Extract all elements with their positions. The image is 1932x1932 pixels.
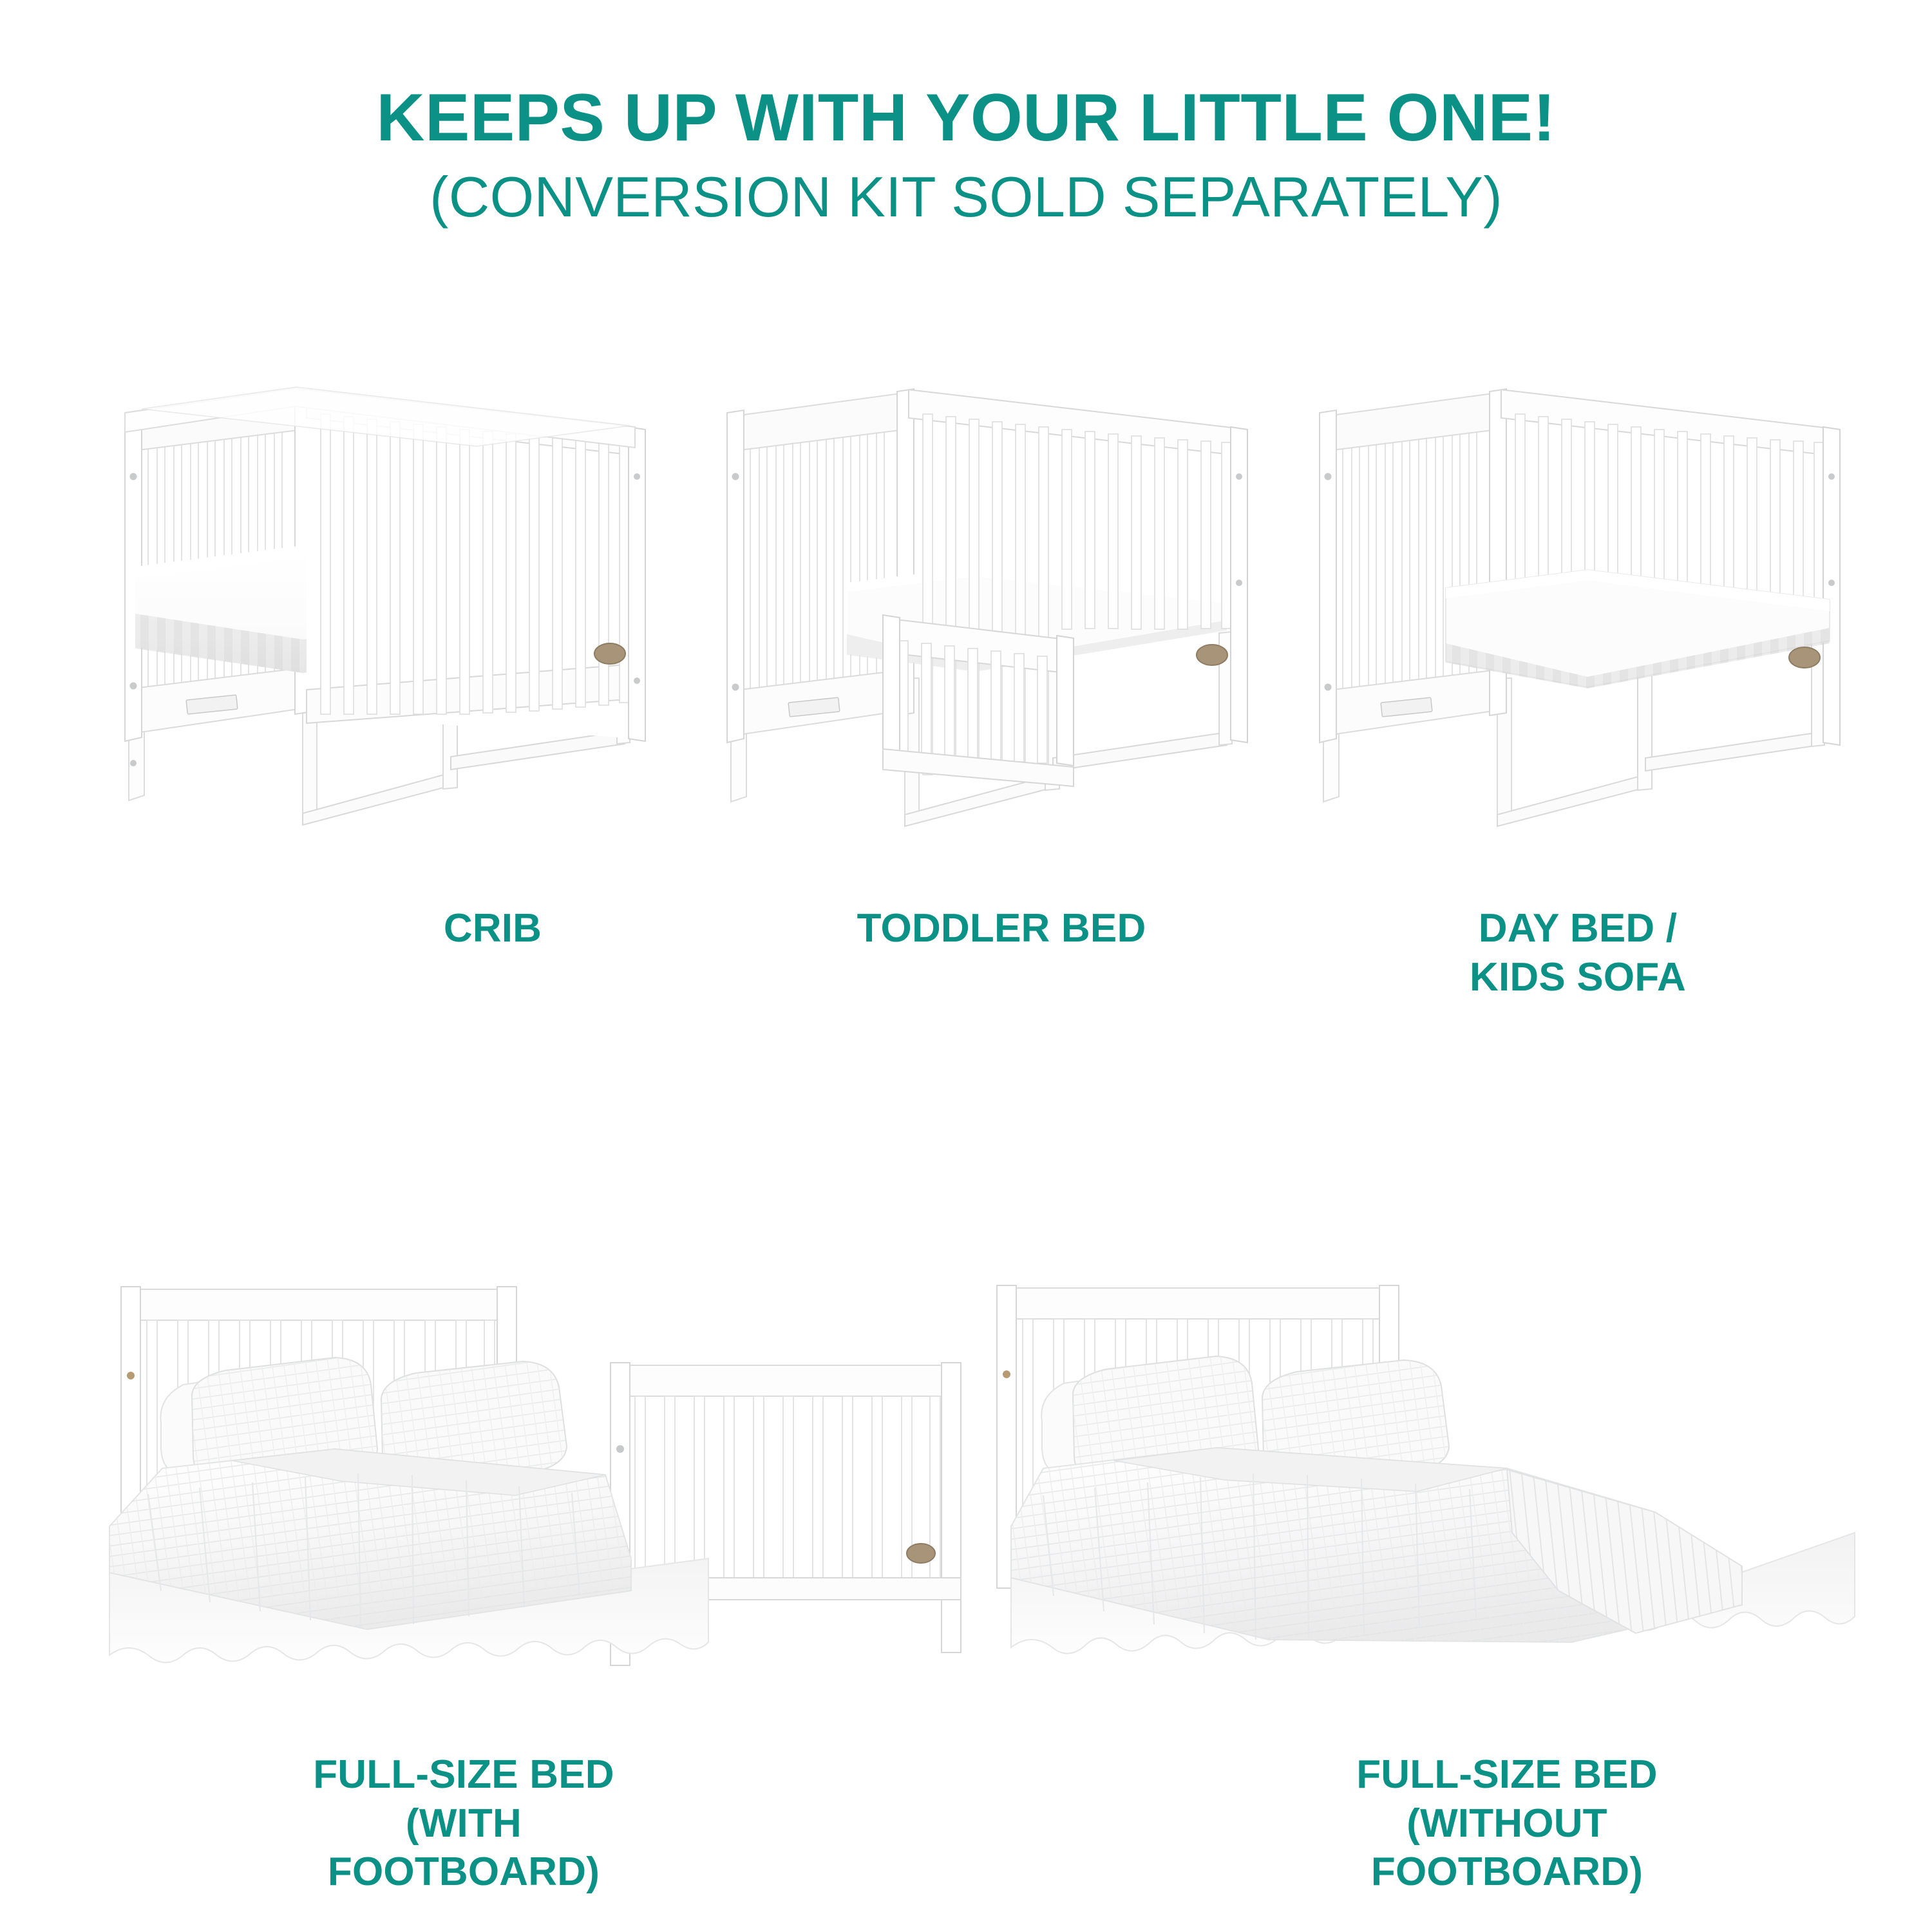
brand-medallion-icon — [907, 1544, 935, 1563]
product-image-toddler-bed — [692, 370, 1298, 834]
product-image-full-size-bed-with-footboard — [64, 1256, 1018, 1719]
day-bed-illustration — [1285, 370, 1890, 834]
daybed-rear-rail — [1501, 390, 1840, 745]
caption-full-size-bed-without-footboard: FULL-SIZE BED (WITHOUT FOOTBOARD) — [1282, 1750, 1732, 1897]
full-bed-with-footboard-illustration — [64, 1256, 1018, 1719]
product-image-crib — [90, 370, 696, 834]
caption-full-size-bed-with-footboard: FULL-SIZE BED (WITH FOOTBOARD) — [270, 1750, 657, 1897]
crib-illustration — [90, 370, 696, 834]
heading-block: KEEPS UP WITH YOUR LITTLE ONE! (CONVERSI… — [0, 84, 1932, 227]
page-subtitle: (CONVERSION KIT SOLD SEPARATELY) — [0, 166, 1932, 227]
caption-crib: CRIB — [299, 904, 686, 953]
toddler-rear-rail — [909, 390, 1247, 775]
brand-medallion-icon — [594, 643, 625, 664]
caption-toddler-bed: TODDLER BED — [808, 904, 1195, 953]
brand-medallion-icon — [1197, 645, 1227, 665]
product-image-day-bed-kids-sofa — [1285, 370, 1890, 834]
infographic-page: KEEPS UP WITH YOUR LITTLE ONE! (CONVERSI… — [0, 0, 1932, 1932]
daybed-head-panel — [1320, 389, 1506, 743]
full-bed-without-footboard-illustration — [992, 1256, 1906, 1719]
page-title: KEEPS UP WITH YOUR LITTLE ONE! — [0, 84, 1932, 152]
toddler-bed-illustration — [692, 370, 1298, 834]
caption-day-bed-kids-sofa: DAY BED / KIDS SOFA — [1385, 904, 1771, 1001]
product-image-full-size-bed-without-footboard — [992, 1256, 1906, 1719]
brand-medallion-icon — [1789, 647, 1820, 668]
